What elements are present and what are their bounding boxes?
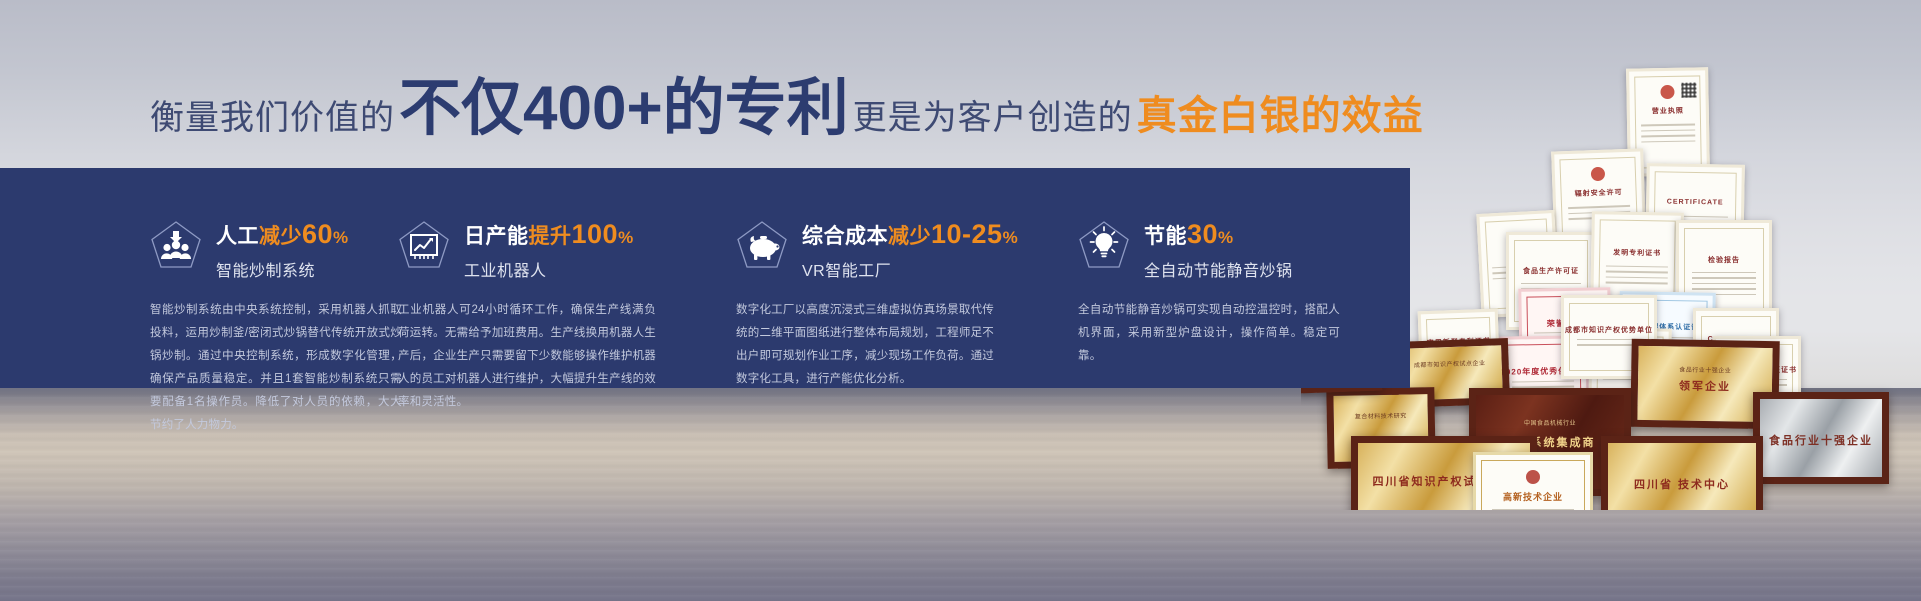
feature-column-labor: 人工减少60% 智能炒制系统 智能炒制系统由中央系统控制，采用机器人抓取投料，运…	[0, 168, 340, 388]
feature-title: 节能30%	[1144, 220, 1293, 250]
feature-title: 日产能提升100%	[464, 220, 634, 250]
feature-subtitle: 全自动节能静音炒锅	[1144, 257, 1293, 281]
plaque-title: 领军企业	[1638, 377, 1772, 395]
award-plaque: 食品行业十强企业	[1753, 392, 1889, 484]
feature-subtitle: VR智能工厂	[802, 257, 1018, 281]
feature-column-cost: 综合成本减少10-25% VR智能工厂 数字化工厂以高度沉浸式三维虚拟仿真场景取…	[688, 168, 1033, 388]
plaque-title: 食品行业十强企业	[1760, 432, 1882, 448]
feature-column-energy: 节能30% 全自动节能静音炒锅 全自动节能静音炒锅可实现自动控温控时，搭配人机界…	[1033, 168, 1393, 388]
headline: 衡量我们价值的 不仅400+的专利 更是为客户创造的 真金白银的效益	[150, 78, 1424, 141]
feature-columns: 人工减少60% 智能炒制系统 智能炒制系统由中央系统控制，采用机器人抓取投料，运…	[0, 168, 1410, 388]
feature-body: 全自动节能静音炒锅可实现自动控温控时，搭配人机界面，采用新型炉盘设计，操作简单。…	[1078, 299, 1340, 368]
piggy-bank-icon	[736, 220, 788, 272]
certificate-label: 食品生产许可证	[1509, 266, 1593, 276]
lightbulb-icon	[1078, 220, 1130, 272]
headline-emphasis: 不仅400+的专利	[395, 78, 853, 140]
plaque-subtitle: 复合材料技术研究	[1334, 410, 1428, 421]
award-plaque: 四川省 技术中心	[1601, 436, 1763, 510]
feature-body: 数字化工厂以高度沉浸式三维虚拟仿真场景取代传统的二维平面图纸进行整体布局规划，工…	[736, 299, 994, 391]
people-group-icon	[150, 220, 202, 272]
certificate-label: 发明专利证书	[1594, 248, 1680, 259]
plaque-title: 四川省 技术中心	[1608, 476, 1756, 492]
certificate-item: 高新技术企业	[1473, 452, 1593, 510]
feature-panel: 人工减少60% 智能炒制系统 智能炒制系统由中央系统控制，采用机器人抓取投料，运…	[0, 168, 1410, 388]
certificate-label: 检验报告	[1679, 255, 1769, 265]
headline-accent: 真金白银的效益	[1133, 83, 1424, 141]
feature-body: 工业机器人可24小时循环工作，确保生产线满负荷运转。无需给予加班费用。生产线换用…	[398, 299, 656, 414]
certificate-label: 成都市知识产权优势单位	[1564, 325, 1654, 335]
certificate-label: 营业执照	[1630, 105, 1706, 116]
feature-column-output: 日产能提升100% 工业机器人 工业机器人可24小时循环工作，确保生产线满负荷运…	[340, 168, 688, 388]
feature-title: 综合成本减少10-25%	[802, 220, 1018, 250]
certificate-label: 高新技术企业	[1476, 490, 1590, 503]
feature-title: 人工减少60%	[216, 220, 349, 250]
headline-lead: 衡量我们价值的	[150, 90, 395, 139]
headline-mid: 更是为客户创造的	[853, 90, 1133, 139]
chart-monitor-icon	[398, 220, 450, 272]
plaque-subtitle: 中国食品机械行业	[1476, 418, 1624, 427]
feature-subtitle: 智能炒制系统	[216, 257, 349, 281]
feature-subtitle: 工业机器人	[464, 257, 634, 281]
